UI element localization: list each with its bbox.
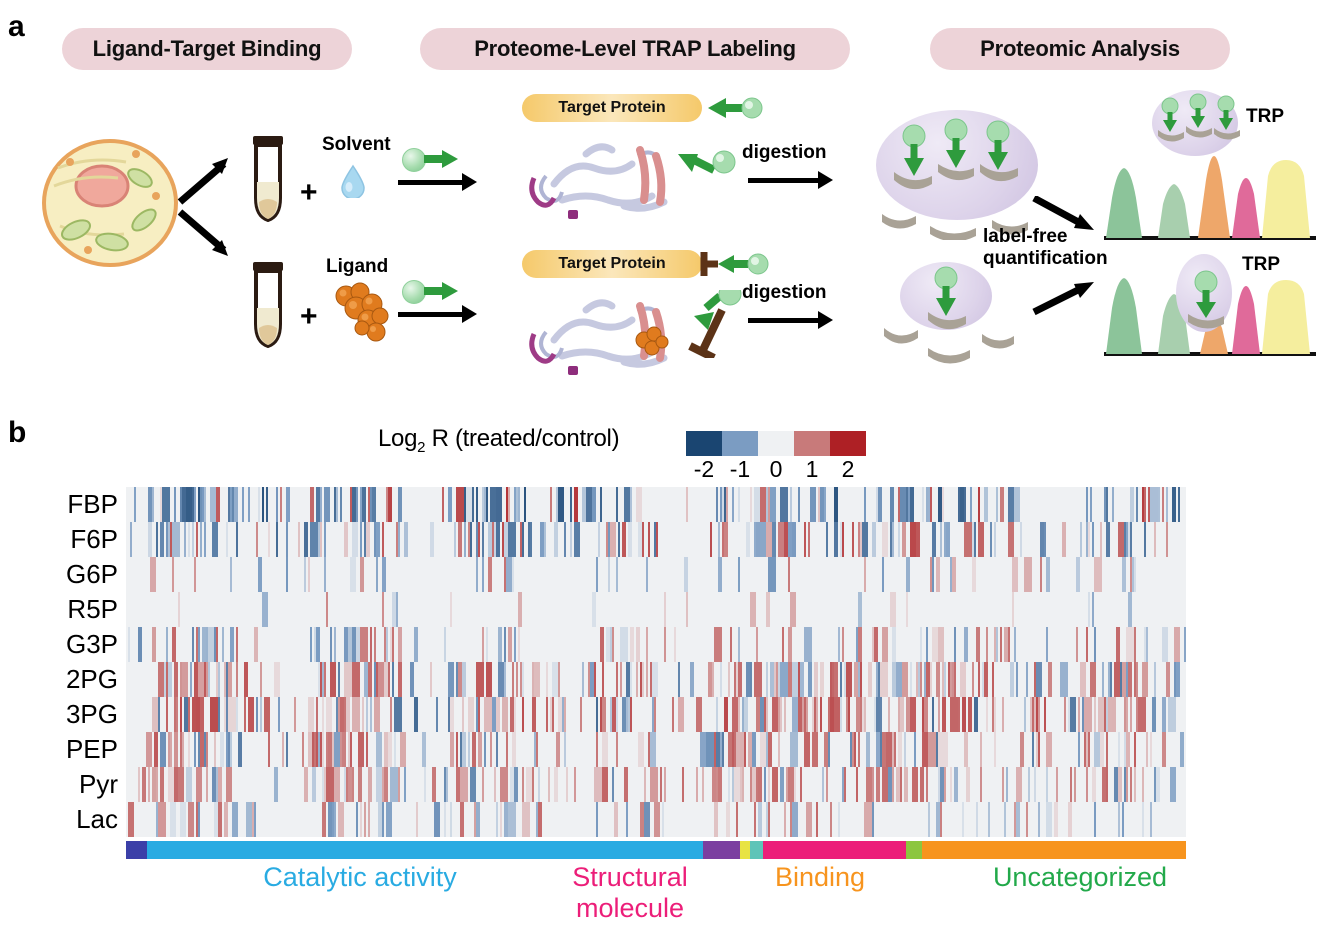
- heatmap-cell: [178, 592, 180, 627]
- heatmap-cell: [174, 487, 176, 522]
- heatmap-cell: [226, 522, 228, 557]
- heatmap-cell: [1134, 557, 1136, 592]
- heatmap-cell: [596, 557, 598, 592]
- heatmap-cell: [890, 487, 894, 522]
- heatmap-cell: [636, 487, 642, 522]
- heatmap-cell: [304, 557, 306, 592]
- category-segment-7[interactable]: [922, 841, 1186, 859]
- heatmap-cell: [1070, 767, 1072, 802]
- heatmap-cell: [1076, 627, 1078, 662]
- heatmap-cell: [1142, 662, 1148, 697]
- heatmap-cell: [834, 522, 838, 557]
- heatmap-cell: [362, 487, 366, 522]
- colorbar-swatch-4: [830, 431, 866, 456]
- heatmap-cell: [262, 592, 268, 627]
- heatmap-cell: [1074, 767, 1076, 802]
- heatmap-cell: [660, 767, 662, 802]
- heatmap-cell: [664, 592, 666, 627]
- heatmap-cell: [216, 627, 218, 662]
- heatmap-cell: [1118, 732, 1120, 767]
- heatmap-cell: [386, 627, 388, 662]
- heatmap-cell: [218, 697, 220, 732]
- heatmap-cell: [478, 522, 480, 557]
- heatmap-cell: [1002, 697, 1004, 732]
- heatmap-cell: [1006, 767, 1008, 802]
- heatmap-cell: [616, 732, 618, 767]
- heatmap-cell: [360, 522, 362, 557]
- heatmap-cell: [1174, 627, 1180, 662]
- heatmap-cell: [904, 767, 908, 802]
- heatmap-cell: [784, 802, 786, 837]
- heatmap-cell: [1158, 487, 1160, 522]
- heatmap-cell: [236, 697, 238, 732]
- heatmap-cell: [758, 767, 762, 802]
- digestion-arrow-head-top: [818, 171, 833, 189]
- heatmap-cell: [244, 697, 246, 732]
- droplet-icon: [340, 164, 366, 198]
- heatmap-cell: [990, 522, 992, 557]
- heatmap-cell: [826, 767, 828, 802]
- heatmap-cell: [1136, 487, 1138, 522]
- heatmap-row-label-3pg: 3PG: [0, 697, 118, 732]
- heatmap-cell: [876, 767, 880, 802]
- heatmap-cell: [552, 697, 554, 732]
- heatmap-cell: [178, 767, 184, 802]
- heatmap-cell: [218, 767, 222, 802]
- heatmap-cell: [346, 697, 350, 732]
- heatmap-cell: [350, 557, 356, 592]
- category-segment-2[interactable]: [703, 841, 740, 859]
- ligand-molecule-icon: [330, 282, 396, 344]
- category-label-binding: Binding: [745, 862, 895, 893]
- heatmap-cell: [1086, 627, 1088, 662]
- heatmap-cell: [176, 697, 178, 732]
- heatmap-cell: [1106, 487, 1108, 522]
- heatmap-cell: [548, 767, 550, 802]
- category-segment-5[interactable]: [763, 841, 907, 859]
- colorbar-swatches: [686, 431, 866, 456]
- colorbar-swatch-1: [722, 431, 758, 456]
- heatmap-cell: [198, 627, 200, 662]
- heatmap-cell: [512, 557, 514, 592]
- heatmap-cell: [972, 557, 976, 592]
- heatmap-cell: [392, 627, 394, 662]
- heatmap-cell: [518, 487, 520, 522]
- heatmap-cell: [316, 697, 318, 732]
- heatmap-cell: [322, 802, 326, 837]
- heatmap-cell: [630, 487, 632, 522]
- heatmap-cell: [682, 767, 684, 802]
- heatmap-cell: [1134, 627, 1136, 662]
- heatmap-cell: [150, 557, 156, 592]
- heatmap-cell: [390, 697, 392, 732]
- heatmap-cell: [696, 697, 702, 732]
- heatmap-cell: [1060, 662, 1068, 697]
- heatmap-cell: [858, 627, 862, 662]
- heatmap-row: [126, 592, 1186, 627]
- heatmap-cell: [448, 662, 454, 697]
- heatmap-cell: [892, 767, 894, 802]
- category-segment-1[interactable]: [147, 841, 702, 859]
- heatmap-cell: [978, 487, 980, 522]
- heatmap-cell: [166, 697, 168, 732]
- heatmap-cell: [486, 627, 488, 662]
- cell-illustration: [40, 138, 180, 268]
- heatmap-cell: [476, 557, 478, 592]
- heatmap-cell: [716, 697, 718, 732]
- heatmap-cell: [900, 697, 904, 732]
- heatmap-cell: [486, 662, 492, 697]
- heatmap-cell: [806, 802, 812, 837]
- heatmap-cell: [336, 487, 338, 522]
- heatmap-row: [126, 627, 1186, 662]
- heatmap-cell: [574, 487, 578, 522]
- heatmap-cell: [814, 662, 818, 697]
- heatmap-cell: [846, 662, 852, 697]
- heatmap-cell: [986, 697, 988, 732]
- heatmap-cell: [906, 557, 910, 592]
- heatmap-cell: [482, 627, 484, 662]
- heatmap-cell: [424, 767, 426, 802]
- category-label-structural-molecule: Structural molecule: [540, 862, 720, 924]
- heatmap-cell: [456, 732, 458, 767]
- heatmap-cell: [978, 522, 984, 557]
- heatmap-cell: [596, 802, 598, 837]
- heatmap-cell: [374, 697, 380, 732]
- heatmap-cell: [556, 732, 560, 767]
- heatmap-cell: [196, 767, 202, 802]
- trp-label-top: TRP: [1246, 106, 1284, 128]
- heatmap-cell: [320, 522, 322, 557]
- heatmap-cell: [1000, 487, 1004, 522]
- heatmap-cell: [770, 487, 776, 522]
- heatmap-cell: [622, 522, 626, 557]
- heatmap-cell: [1094, 802, 1096, 837]
- heatmap-cell: [1102, 662, 1104, 697]
- heatmap-cell: [254, 627, 258, 662]
- heatmap-row: [126, 557, 1186, 592]
- category-segment-4[interactable]: [750, 841, 763, 859]
- heatmap-cell: [1112, 487, 1114, 522]
- heatmap-cell: [344, 522, 348, 557]
- heatmap-cell: [1024, 697, 1026, 732]
- heatmap-cell: [626, 802, 628, 837]
- heatmap-cell: [730, 627, 732, 662]
- heatmap-cell: [794, 767, 796, 802]
- heatmap-cell: [1156, 767, 1160, 802]
- panel-b-letter: b: [8, 418, 26, 448]
- heatmap-cell: [360, 627, 368, 662]
- heatmap-cell: [488, 557, 492, 592]
- heatmap-cell: [926, 767, 928, 802]
- heatmap-cell: [1106, 767, 1108, 802]
- heatmap-cell: [820, 662, 824, 697]
- heatmap-cell: [580, 697, 582, 732]
- heatmap-cell: [780, 767, 784, 802]
- heatmap-cell: [1080, 662, 1086, 697]
- heatmap-cell: [372, 487, 376, 522]
- probe-blocked-arrow-top: [694, 246, 770, 282]
- heatmap-cell: [920, 627, 922, 662]
- heatmap-cell: [464, 522, 466, 557]
- heatmap-cell: [196, 522, 198, 557]
- heatmap-cell: [1084, 697, 1092, 732]
- heatmap-cell: [188, 522, 190, 557]
- heatmap-cell: [152, 487, 154, 522]
- heatmap-cell: [446, 767, 448, 802]
- heatmap-cell: [726, 487, 728, 522]
- heatmap-cell: [260, 697, 262, 732]
- heatmap-cell: [936, 557, 940, 592]
- heatmap-cell: [394, 732, 396, 767]
- heatmap-cell: [1046, 732, 1052, 767]
- heatmap-cell: [394, 697, 402, 732]
- heatmap-cell: [1122, 802, 1124, 837]
- heatmap-cell: [388, 662, 390, 697]
- heatmap-cell: [404, 522, 408, 557]
- heatmap-cell: [656, 522, 658, 557]
- heatmap-cell: [324, 487, 330, 522]
- heatmap-row-label-pep: PEP: [0, 732, 118, 767]
- heatmap-cell: [310, 487, 314, 522]
- heatmap-cell: [902, 662, 908, 697]
- plus-sign-bottom: +: [300, 302, 318, 332]
- heatmap-cell: [442, 487, 444, 522]
- heatmap-cell: [696, 767, 698, 802]
- heatmap-cell: [630, 627, 634, 662]
- heatmap-cell: [230, 557, 232, 592]
- heatmap-cell: [508, 522, 516, 557]
- heatmap-cell: [874, 627, 878, 662]
- heatmap-cell: [910, 662, 912, 697]
- heatmap-cell: [368, 767, 372, 802]
- heatmap-cell: [160, 522, 164, 557]
- heatmap-cell: [194, 732, 196, 767]
- labeled-peptides-bottom: [880, 262, 1030, 372]
- heatmap-cell: [222, 627, 224, 662]
- heatmap-cell: [772, 767, 778, 802]
- heatmap-cell: [650, 767, 658, 802]
- category-color-bar: [126, 841, 1186, 859]
- heatmap-cell: [326, 697, 332, 732]
- heatmap-cell: [926, 627, 928, 662]
- heatmap-cell: [324, 557, 326, 592]
- heatmap-cell: [268, 732, 270, 767]
- heatmap-cell: [616, 487, 618, 522]
- heatmap-cell: [602, 662, 604, 697]
- heatmap-cell: [286, 557, 288, 592]
- heatmap-cell: [168, 662, 172, 697]
- converge-arrow-bottom: [1032, 276, 1102, 316]
- heatmap-cell: [650, 732, 656, 767]
- heatmap-cell: [1092, 522, 1094, 557]
- heatmap-cell: [738, 557, 740, 592]
- heatmap-cell: [454, 522, 456, 557]
- category-segment-6[interactable]: [906, 841, 922, 859]
- heatmap-cell: [286, 487, 290, 522]
- heatmap-cell: [992, 662, 994, 697]
- heatmap-cell: [1088, 732, 1090, 767]
- heatmap-cell: [204, 487, 206, 522]
- heatmap-cell: [334, 802, 336, 837]
- reaction-arrow-line-bottom: [398, 312, 464, 317]
- heatmap-cell: [712, 662, 714, 697]
- heatmap-cell: [286, 732, 288, 767]
- heatmap-cell: [366, 697, 368, 732]
- heatmap-cell: [892, 627, 896, 662]
- heatmap-cell: [620, 627, 628, 662]
- heatmap-cell: [994, 522, 996, 557]
- heatmap-cell: [242, 487, 244, 522]
- heatmap-cell: [512, 732, 516, 767]
- heatmap-cell: [1046, 627, 1048, 662]
- heatmap-cell: [192, 627, 194, 662]
- heatmap-row: [126, 767, 1186, 802]
- heatmap-cell: [968, 697, 972, 732]
- heatmap-cell: [286, 522, 288, 557]
- split-arrows-icon: [176, 140, 238, 270]
- heatmap-cell: [352, 767, 354, 802]
- heatmap-cell: [226, 767, 232, 802]
- heatmap-cell: [514, 767, 518, 802]
- heatmap-cell: [236, 627, 238, 662]
- heatmap-cell: [664, 627, 666, 662]
- heatmap-cell: [278, 697, 280, 732]
- heatmap-cell: [986, 627, 988, 662]
- heatmap-cell: [382, 557, 386, 592]
- heatmap-cell: [922, 487, 924, 522]
- heatmap-cell: [974, 697, 978, 732]
- heatmap-cell: [258, 557, 262, 592]
- heatmap-cell: [984, 662, 988, 697]
- heatmap-cell: [684, 557, 688, 592]
- heatmap-cell: [1150, 732, 1152, 767]
- heatmap-cell: [1014, 487, 1020, 522]
- heatmap-cell: [920, 767, 924, 802]
- heatmap-row-label-lac: Lac: [0, 802, 118, 837]
- label-solvent: Solvent: [322, 134, 391, 155]
- heatmap-cell: [1078, 732, 1080, 767]
- heatmap-cell: [1016, 662, 1018, 697]
- heatmap-cell: [624, 767, 628, 802]
- heatmap-cell: [1020, 732, 1024, 767]
- heatmap-cell: [906, 592, 908, 627]
- heatmap-cell: [434, 802, 440, 837]
- heatmap-cell: [194, 557, 196, 592]
- heatmap-cell: [382, 592, 384, 627]
- category-segment-3[interactable]: [740, 841, 750, 859]
- heatmap-cell: [724, 522, 728, 557]
- heatmap-cell: [158, 802, 166, 837]
- reaction-arrow-head-top: [462, 173, 477, 191]
- heatmap-cell: [570, 522, 572, 557]
- heatmap-cell: [200, 522, 202, 557]
- heatmap-cell: [890, 592, 896, 627]
- heatmap-cell: [984, 487, 988, 522]
- heatmap-cell: [220, 732, 224, 767]
- heatmap-cell: [496, 802, 498, 837]
- heatmap-cell: [788, 557, 790, 592]
- heatmap-cell: [790, 487, 792, 522]
- heatmap-cell: [592, 592, 596, 627]
- sample-tube-ligand: [248, 262, 288, 348]
- heatmap-cell: [686, 487, 688, 522]
- heatmap-cell: [592, 487, 596, 522]
- heatmap-cell: [1136, 662, 1138, 697]
- heatmap-cell: [1134, 767, 1136, 802]
- heatmap-cell: [924, 697, 928, 732]
- heatmap-cell: [728, 662, 730, 697]
- heatmap-cell: [374, 627, 376, 662]
- legend-log-suffix: R (treated/control): [425, 425, 619, 452]
- heatmap-cell: [172, 627, 176, 662]
- heatmap-cell: [630, 697, 632, 732]
- heatmap-cell: [236, 662, 238, 697]
- heatmap-cell: [856, 767, 858, 802]
- heatmap-cell: [826, 522, 828, 557]
- heatmap-cell: [522, 802, 530, 837]
- heatmap-cell: [248, 697, 254, 732]
- heatmap-cell: [500, 802, 502, 837]
- heatmap-cell: [944, 767, 946, 802]
- heatmap-cell: [170, 732, 172, 767]
- heatmap-cell: [460, 802, 464, 837]
- heatmap-cell: [954, 627, 956, 662]
- digestion-arrow-line-bottom: [748, 318, 820, 323]
- heatmap-cell: [878, 487, 882, 522]
- heatmap-cell: [340, 487, 342, 522]
- heatmap-cell: [200, 697, 204, 732]
- heatmap-cell: [752, 732, 756, 767]
- heatmap-cell: [322, 732, 324, 767]
- heatmap-cell: [938, 627, 944, 662]
- heatmap-cell: [864, 487, 866, 522]
- heatmap-cell: [940, 522, 942, 557]
- heatmap-cell: [186, 767, 192, 802]
- heatmap-cell: [450, 732, 454, 767]
- heatmap-cell: [582, 662, 584, 697]
- heatmap-cell: [664, 767, 666, 802]
- heatmap-cell: [686, 592, 688, 627]
- heatmap-cell: [522, 767, 524, 802]
- heatmap-cell: [976, 802, 978, 837]
- heatmap-cell: [148, 767, 150, 802]
- heatmap-cell: [450, 697, 454, 732]
- heatmap-cell: [564, 522, 566, 557]
- heatmap-cell: [174, 732, 178, 767]
- heatmap-cell: [382, 522, 384, 557]
- heatmap-cell: [316, 627, 320, 662]
- heatmap-cell: [180, 802, 186, 837]
- heatmap-cell: [1056, 767, 1058, 802]
- heatmap-cell: [980, 767, 982, 802]
- heatmap-cell: [646, 557, 648, 592]
- heatmap-cell: [398, 487, 402, 522]
- heatmap-cell: [156, 522, 158, 557]
- heatmap-cell: [716, 487, 718, 522]
- heatmap-cell: [322, 697, 324, 732]
- heatmap-cell: [644, 802, 650, 837]
- heatmap-cell: [630, 662, 632, 697]
- heatmap-cell: [596, 697, 598, 732]
- heatmap-cell: [768, 732, 772, 767]
- heatmap-cell: [754, 802, 756, 837]
- heatmap-cell: [1046, 767, 1048, 802]
- category-segment-0[interactable]: [126, 841, 147, 859]
- heatmap-cell: [1172, 487, 1176, 522]
- heatmap-cell: [758, 802, 762, 837]
- heatmap-cell: [462, 662, 466, 697]
